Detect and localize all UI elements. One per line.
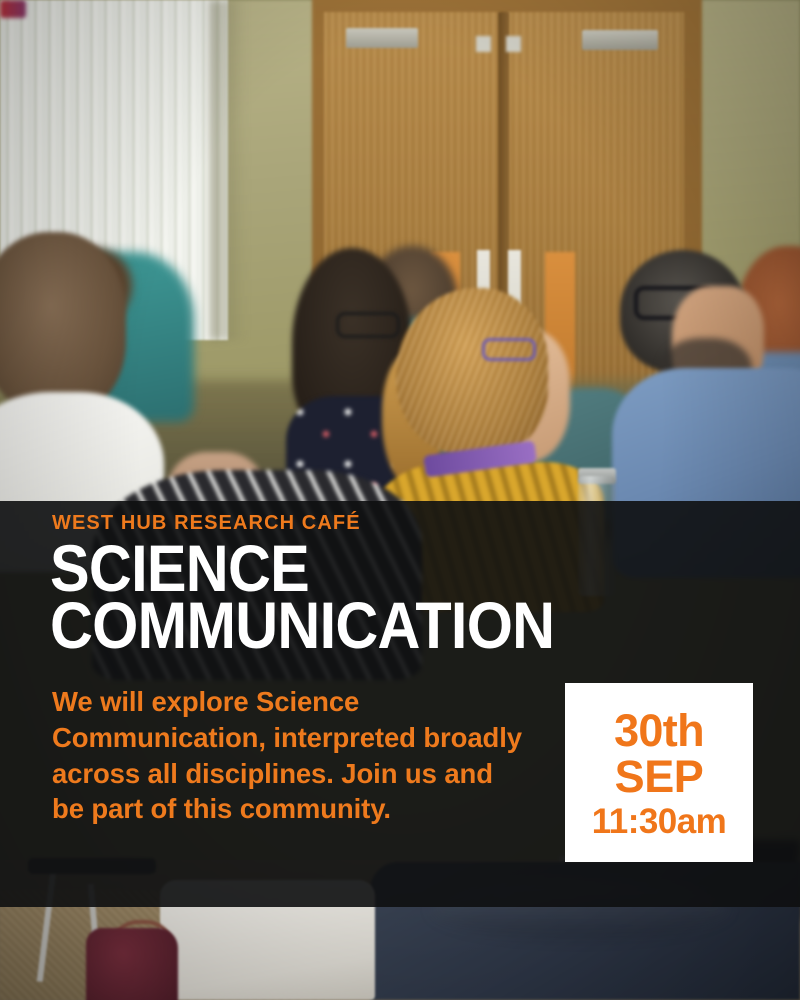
door-fitting-1 xyxy=(476,36,491,52)
event-description: We will explore Science Communication, i… xyxy=(52,684,532,827)
door-closer-left xyxy=(346,28,418,48)
event-poster: WEST HUB RESEARCH CAFÉ SCIENCE COMMUNICA… xyxy=(0,0,800,1000)
audience-blonde-glasses-icon xyxy=(482,338,536,361)
door-closer-right xyxy=(582,30,658,50)
event-series-kicker: WEST HUB RESEARCH CAFÉ xyxy=(52,513,361,533)
event-date-day: 30th xyxy=(614,708,704,754)
event-date-card: 30th SEP 11:30am xyxy=(565,683,753,862)
audience-polka-dot-glasses-icon xyxy=(336,312,400,338)
white-top-logo xyxy=(0,0,26,18)
event-date-time: 11:30am xyxy=(592,802,727,841)
headline-line-2: COMMUNICATION xyxy=(50,597,626,654)
audience-blonde-hair xyxy=(396,288,548,456)
door-fitting-2 xyxy=(506,36,521,52)
page-title: SCIENCE COMMUNICATION xyxy=(50,540,626,654)
burgundy-bag xyxy=(86,928,178,1000)
event-date-month: SEP xyxy=(615,754,704,800)
